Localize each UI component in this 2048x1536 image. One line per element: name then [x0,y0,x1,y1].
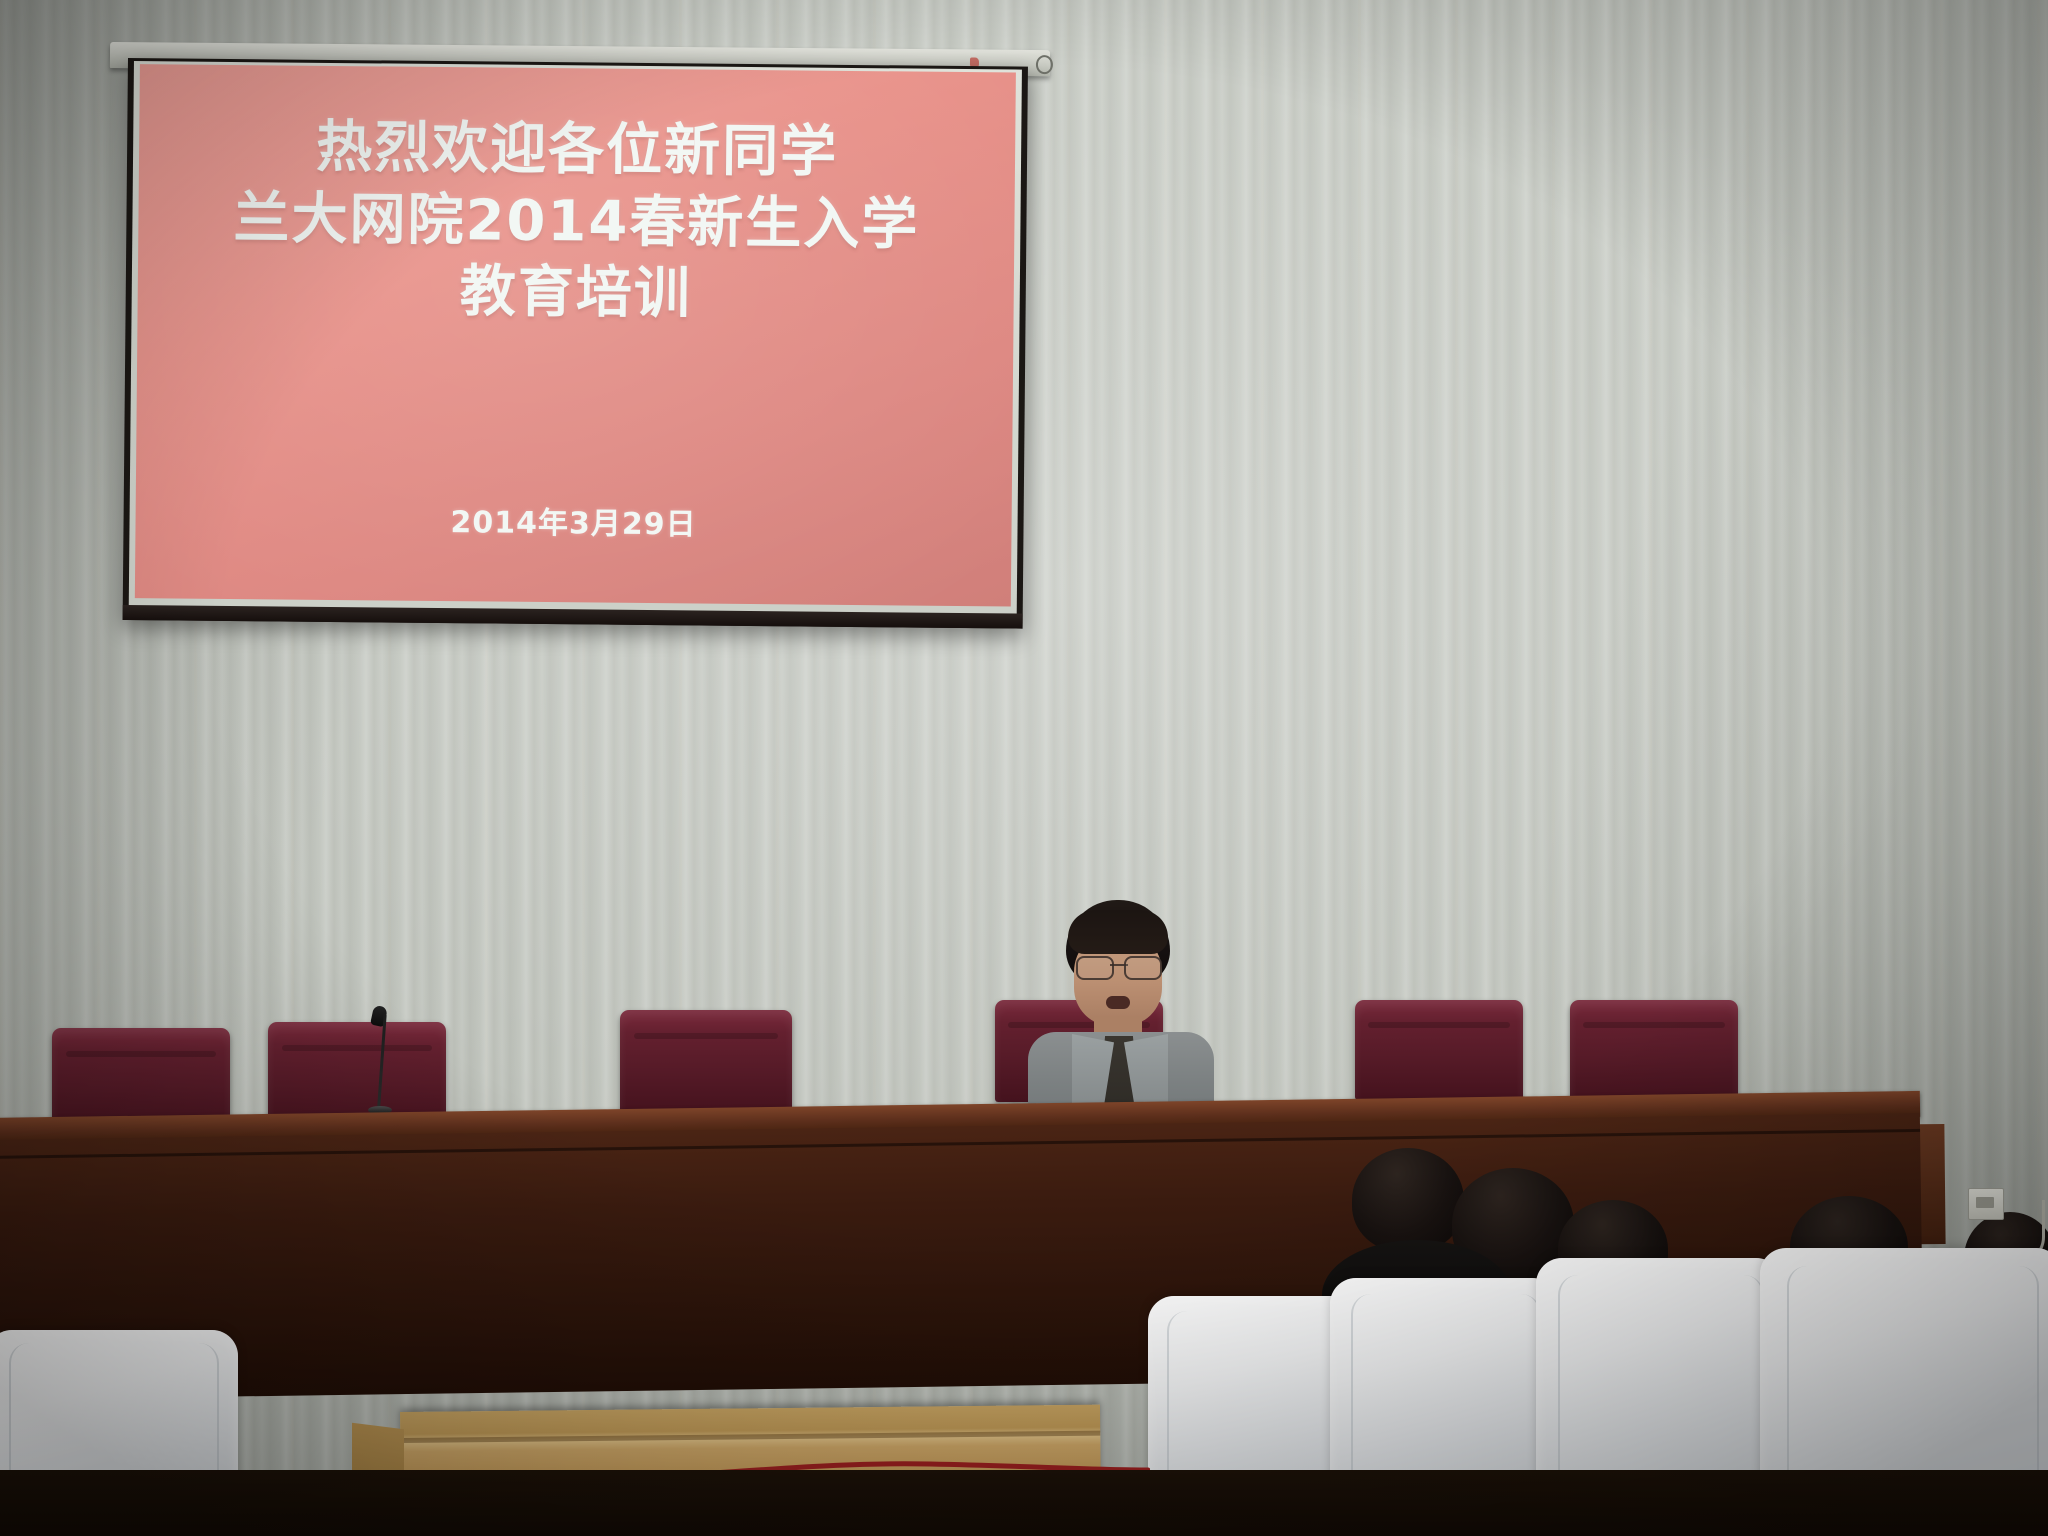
projected-slide: 热烈欢迎各位新同学 兰大网院2014春新生入学 教育培训 2014年3月29日 [135,64,1016,606]
desk-edge-line [400,1431,1100,1443]
stage-chair-2 [268,1022,446,1126]
slide-line-3: 教育培训 [137,253,1014,333]
slide-date: 2014年3月29日 [135,494,1011,546]
slide-line-1: 热烈欢迎各位新同学 [139,110,1016,190]
stage-chair-5 [1355,1000,1523,1100]
projector-screen: 热烈欢迎各位新同学 兰大网院2014春新生入学 教育培训 2014年3月29日 [123,58,1028,629]
outlet-socket-slot [1976,1197,1994,1208]
foreground-floor [0,1470,2048,1536]
presenter-mouth [1106,996,1130,1009]
stage-chair-6 [1570,1000,1738,1100]
glasses-lens-left [1076,956,1114,980]
audience-head-1 [1352,1148,1464,1252]
slide-line-2: 兰大网院2014春新生入学 [138,182,1015,262]
presenter-hair-front [1068,910,1168,954]
stage-chair-3 [620,1010,792,1114]
screen-pull-ring[interactable] [1036,55,1053,74]
photo-scene: 热烈欢迎各位新同学 兰大网院2014春新生入学 教育培训 2014年3月29日 [0,0,2048,1536]
glasses-lens-right [1124,956,1162,980]
glasses-icon [1076,956,1162,976]
slide-title-block: 热烈欢迎各位新同学 兰大网院2014春新生入学 教育培训 [137,110,1015,333]
